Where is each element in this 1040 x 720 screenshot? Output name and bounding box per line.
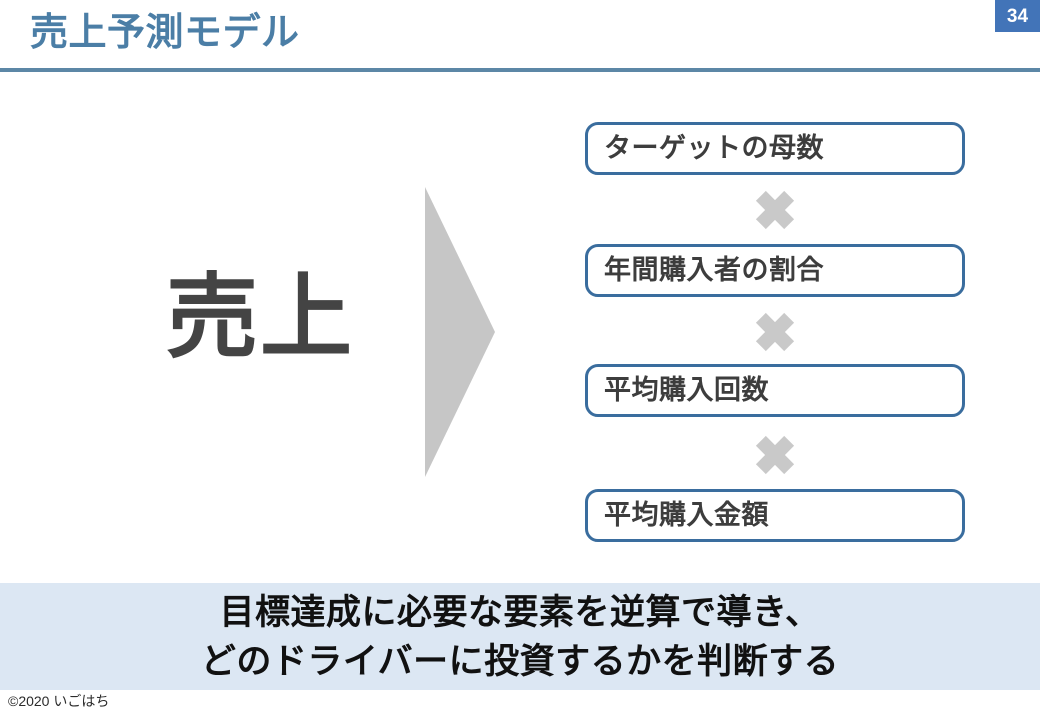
slide-body: 売上 ターゲットの母数 年間購入者の割合: [0, 72, 1040, 583]
factor-label: 平均購入回数: [588, 377, 769, 404]
factor-box-annual-buyer-rate[interactable]: 年間購入者の割合: [585, 244, 965, 297]
factor-box-average-purchase-count[interactable]: 平均購入回数: [585, 364, 965, 417]
factor-label: 年間購入者の割合: [588, 257, 824, 284]
slide-header: 売上予測モデル 34: [0, 0, 1040, 72]
page-title: 売上予測モデル: [30, 8, 300, 58]
page-number-badge: 34: [995, 0, 1040, 32]
right-arrow-icon: [420, 187, 510, 477]
takeaway-band: 目標達成に必要な要素を逆算で導き、 どのドライバーに投資するかを判断する: [0, 583, 1040, 690]
factor-stack: ターゲットの母数 年間購入者の割合 平均購入回数: [585, 122, 965, 542]
slide-canvas: 売上予測モデル 34 売上 ターゲットの母数 年間購入者の割合: [0, 0, 1040, 720]
copyright-notice: ©2020 いごはち: [8, 694, 109, 708]
takeaway-line-2: どのドライバーに投資するかを判断する: [201, 637, 839, 686]
factor-label: 平均購入金額: [588, 502, 769, 529]
factor-box-average-purchase-amount[interactable]: 平均購入金額: [585, 489, 965, 542]
factor-label: ターゲットの母数: [588, 135, 824, 162]
result-label: 売上: [130, 272, 390, 364]
multiply-icon: [755, 190, 795, 230]
multiply-icon: [755, 312, 795, 352]
multiply-icon: [755, 435, 795, 475]
takeaway-line-1: 目標達成に必要な要素を逆算で導き、: [219, 588, 820, 637]
factor-box-target-population[interactable]: ターゲットの母数: [585, 122, 965, 175]
